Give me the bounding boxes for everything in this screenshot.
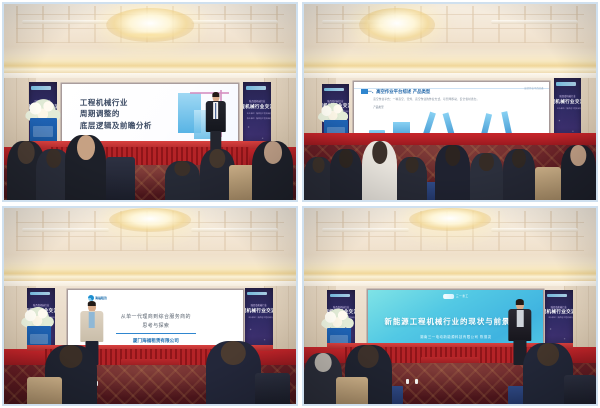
banner-logo-icon (247, 292, 267, 295)
chair (336, 377, 368, 404)
banner-subtitle: 陕西省机械行业 (559, 94, 575, 98)
ceiling-4 (304, 208, 596, 275)
slide-3-org: 厦门海福租赁有限公司 (133, 338, 179, 344)
conference-scene-3: 陕西省机械行业 工程机械行业交流会 主办单位：陕西省工程机械行业协会 陕西 · … (4, 208, 296, 404)
ceiling-1 (4, 4, 296, 65)
audience-member (165, 161, 200, 200)
audience-member (65, 135, 106, 200)
chair (106, 157, 135, 200)
ceiling-beam (22, 20, 110, 24)
water-cup (415, 379, 418, 384)
audience-member (304, 157, 333, 200)
audience-member (330, 149, 362, 200)
banner-line-1: 主办单位：陕西省工程机械行业协会 (247, 112, 268, 115)
chair (229, 165, 255, 200)
audience-member (252, 141, 293, 200)
banner-subtitle: 陕西省机械行业 (551, 305, 567, 309)
slide-2-subtitle: 高空作业平台：一种高空、室外、高空作业的作业方式，可升降移动、安全省时省力。 (373, 97, 479, 101)
banner-logo-icon (31, 86, 51, 90)
slide-3-divider (116, 333, 197, 334)
banner-title: 工程机械行业交流会 (554, 99, 582, 105)
banner-subtitle: 陕西省机械行业 (251, 303, 267, 307)
ceiling-3 (4, 208, 296, 275)
conference-scene-4: 陕西省机械行业 工程机械行业交流会 主办单位：陕西省工程机械行业协会 陕西 · … (304, 208, 596, 404)
ceiling-coffers-2 (316, 6, 585, 42)
slide-3-line1: 从单一代理商到综合服务商的 (121, 313, 191, 320)
banner-logo-icon (324, 88, 344, 91)
conference-scene-1: 陕西省机械行业 工程机械行业交流会 主办单位：陕西省工程机械行业协会 承办单位：… (4, 4, 296, 200)
banner-title: 工程机械行业交流会 (545, 309, 573, 315)
banner-logo-icon (330, 294, 350, 297)
photo-bottom-left[interactable]: 陕西省机械行业 工程机械行业交流会 主办单位：陕西省工程机械行业协会 陕西 · … (2, 206, 298, 406)
audience-member (397, 157, 426, 200)
banner-line-2: 承办单位：陕西省工程机械行业协会秘书处 (247, 117, 268, 120)
slide-3-line2: 思考与探索 (142, 322, 169, 329)
banner-line-1: 主办单位：陕西省工程机械行业协会 (557, 107, 578, 110)
slide-1-line2: 周期调整的 (80, 108, 152, 120)
audience-member (470, 153, 502, 200)
ceiling-beam (491, 228, 579, 232)
ceiling-beam (22, 228, 110, 232)
chandelier-3 (109, 208, 191, 232)
slide-4-title: 新能源工程机械行业的现状与前景展望 (385, 316, 528, 327)
banner-subtitle: 陕西省机械行业 (249, 99, 265, 103)
banner-title: 工程机械行业交流会 (245, 308, 273, 314)
brand-logo-icon (443, 294, 454, 299)
speaker-1 (205, 92, 225, 155)
ceiling-beam (322, 228, 410, 232)
company-logo-mark-icon (88, 295, 94, 301)
slide-1-line1: 工程机械行业 (80, 97, 152, 109)
photo-top-left[interactable]: 陕西省机械行业 工程机械行业交流会 主办单位：陕西省工程机械行业协会 承办单位：… (2, 2, 298, 202)
slide-2-tag: 高空作业平台综述 (524, 86, 543, 90)
conference-scene-2: 陕西省机械行业 工程机械行业交流会 主办单位：陕西省工程机械行业协会 陕西 · … (304, 4, 596, 200)
company-logo: 海福租赁 (88, 295, 108, 301)
chair (564, 375, 596, 404)
photo-bottom-right[interactable]: 陕西省机械行业 工程机械行业交流会 主办单位：陕西省工程机械行业协会 陕西 · … (302, 206, 598, 406)
company-logo-text: 海福租赁 (95, 296, 107, 300)
ceiling-2 (304, 4, 596, 65)
banner-logo-icon (30, 292, 50, 295)
water-cup (406, 379, 409, 384)
ceiling-beam (191, 20, 279, 24)
audience-member (206, 341, 261, 404)
photo-collage-grid: 陕西省机械行业 工程机械行业交流会 主办单位：陕西省工程机械行业协会 承办单位：… (0, 0, 600, 408)
audience-member (503, 149, 535, 200)
audience-member (362, 141, 397, 200)
photo-top-right[interactable]: 陕西省机械行业 工程机械行业交流会 主办单位：陕西省工程机械行业协会 陕西 · … (302, 2, 598, 202)
slide-2-title: 一、高空作业平台综述 产品类型 (367, 89, 430, 95)
stage-front-2 (304, 133, 596, 145)
banner-logo-icon (246, 86, 266, 90)
banner-logo-icon (556, 82, 576, 86)
slide-1-line3: 底层逻辑及前瞻分析 (80, 120, 152, 132)
ceiling-beam (491, 20, 579, 24)
slide-1-text: 工程机械行业 周期调整的 底层逻辑及前瞻分析 (80, 97, 152, 132)
chandelier-2 (359, 8, 435, 42)
brand-name: 三一重工 (456, 294, 469, 298)
chair (535, 167, 561, 200)
banner-logo-icon (547, 294, 567, 297)
banner-line-1: 主办单位：陕西省工程机械行业协会 (548, 316, 569, 319)
slide-2-label: 产品类型 (373, 105, 383, 109)
chandelier-4 (409, 208, 491, 231)
audience-member (561, 145, 596, 200)
ceiling-beam (191, 228, 279, 232)
banner-line-1: 主办单位：陕西省工程机械行业协会 (248, 316, 269, 319)
chandelier-rim-1 (115, 32, 185, 38)
audience-member (435, 145, 470, 200)
slide-4-brand: 三一重工 (443, 294, 469, 299)
banner-title: 工程机械行业交流会 (243, 104, 271, 110)
chair (27, 377, 62, 404)
chair (255, 373, 290, 404)
